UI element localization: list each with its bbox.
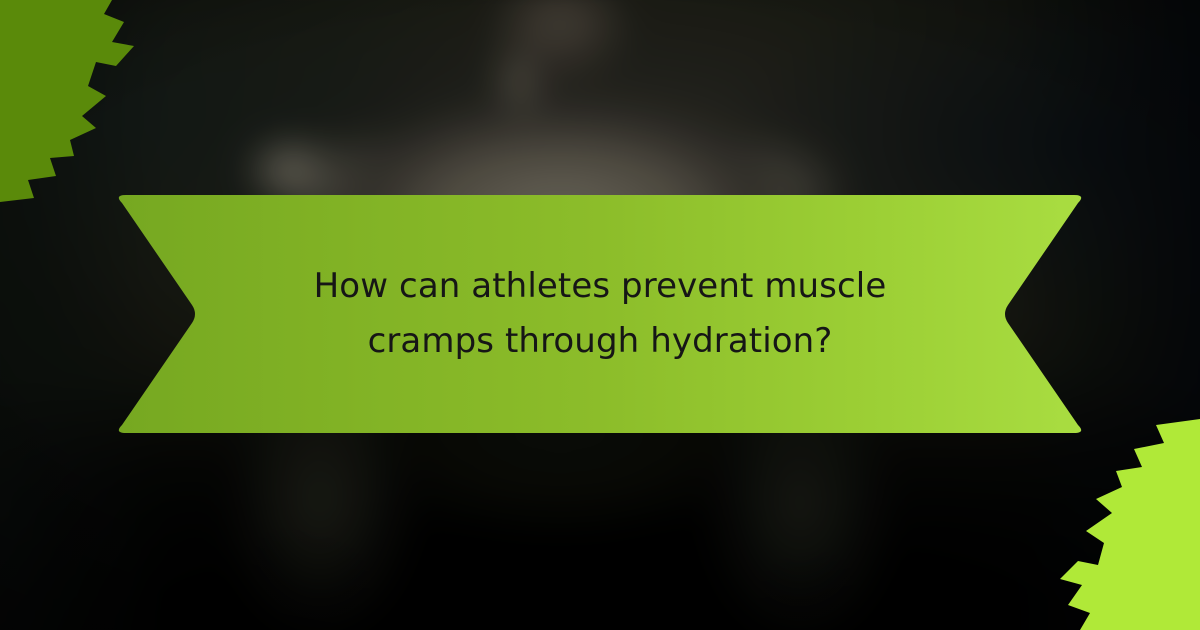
ribbon-banner-content: How can athletes prevent muscle cramps t… (108, 195, 1092, 433)
ribbon-banner: How can athletes prevent muscle cramps t… (108, 195, 1092, 433)
torn-paper-shape-top-left (0, 0, 180, 215)
page-title: How can athletes prevent muscle cramps t… (256, 259, 944, 369)
social-card: How can athletes prevent muscle cramps t… (0, 0, 1200, 630)
torn-paper-shape-bottom-right (1020, 415, 1200, 630)
